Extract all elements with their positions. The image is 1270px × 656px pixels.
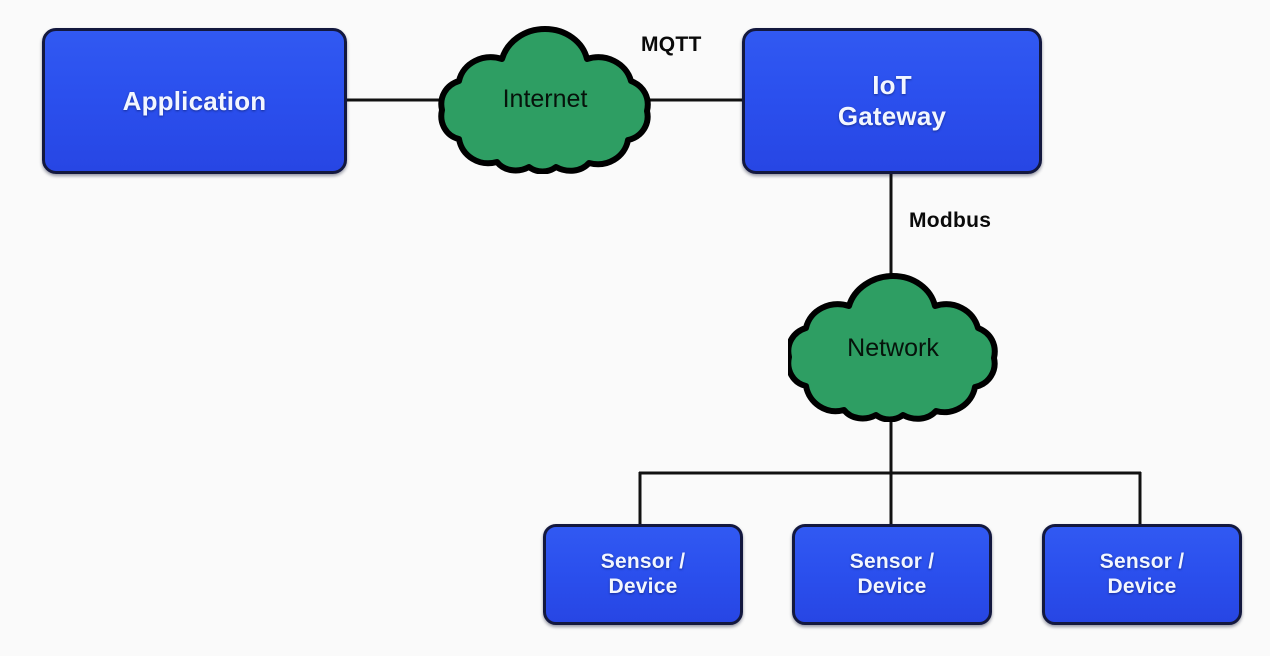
node-iot-gateway-label: IoT Gateway	[838, 70, 946, 131]
node-sensor-device-3-label: Sensor / Device	[1100, 550, 1184, 600]
cloud-internet-shape	[438, 23, 652, 174]
node-application[interactable]: Application	[42, 28, 347, 174]
cloud-network[interactable]: Network	[788, 270, 998, 422]
node-sensor-device-2-label: Sensor / Device	[850, 550, 934, 600]
node-sensor-device-2[interactable]: Sensor / Device	[792, 524, 992, 625]
node-sensor-device-1[interactable]: Sensor / Device	[543, 524, 743, 625]
cloud-internet[interactable]: Internet	[438, 23, 652, 174]
protocol-label-modbus: Modbus	[909, 209, 991, 233]
node-iot-gateway[interactable]: IoT Gateway	[742, 28, 1042, 174]
node-application-label: Application	[123, 86, 267, 117]
diagram-canvas: Application Internet MQTT IoT Gateway Mo…	[0, 0, 1270, 656]
protocol-label-mqtt: MQTT	[641, 33, 702, 57]
node-sensor-device-1-label: Sensor / Device	[601, 550, 685, 600]
cloud-network-shape	[788, 270, 998, 422]
node-sensor-device-3[interactable]: Sensor / Device	[1042, 524, 1242, 625]
